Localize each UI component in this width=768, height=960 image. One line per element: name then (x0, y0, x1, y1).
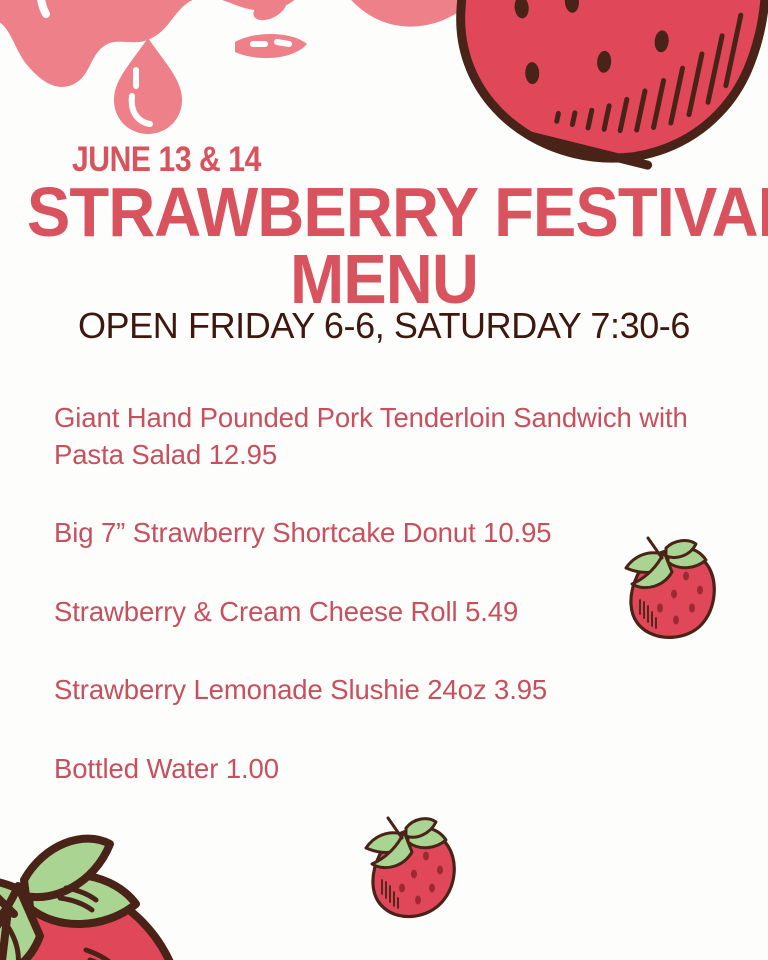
menu-item-list: Giant Hand Pounded Pork Tenderloin Sandw… (54, 400, 734, 787)
menu-item: Giant Hand Pounded Pork Tenderloin Sandw… (54, 400, 714, 473)
menu-item: Strawberry & Cream Cheese Roll 5.49 (54, 594, 714, 631)
menu-item: Big 7” Strawberry Shortcake Donut 10.95 (54, 515, 714, 552)
opening-hours-line: OPEN FRIDAY 6-6, SATURDAY 7:30-6 (0, 308, 768, 344)
strawberry-festival-menu-poster: JUNE 13 & 14 STRAWBERRY FESTIVAL MENU OP… (0, 0, 768, 960)
menu-item: Bottled Water 1.00 (54, 751, 714, 788)
page-title-line-2: MENU (27, 244, 741, 314)
page-title-line-1: STRAWBERRY FESTIVAL (27, 180, 741, 244)
poster-text-layer: JUNE 13 & 14 STRAWBERRY FESTIVAL MENU OP… (0, 0, 768, 960)
menu-item: Strawberry Lemonade Slushie 24oz 3.95 (54, 672, 714, 709)
festival-date-line: JUNE 13 & 14 (72, 142, 261, 177)
page-title: STRAWBERRY FESTIVAL MENU (0, 180, 768, 314)
